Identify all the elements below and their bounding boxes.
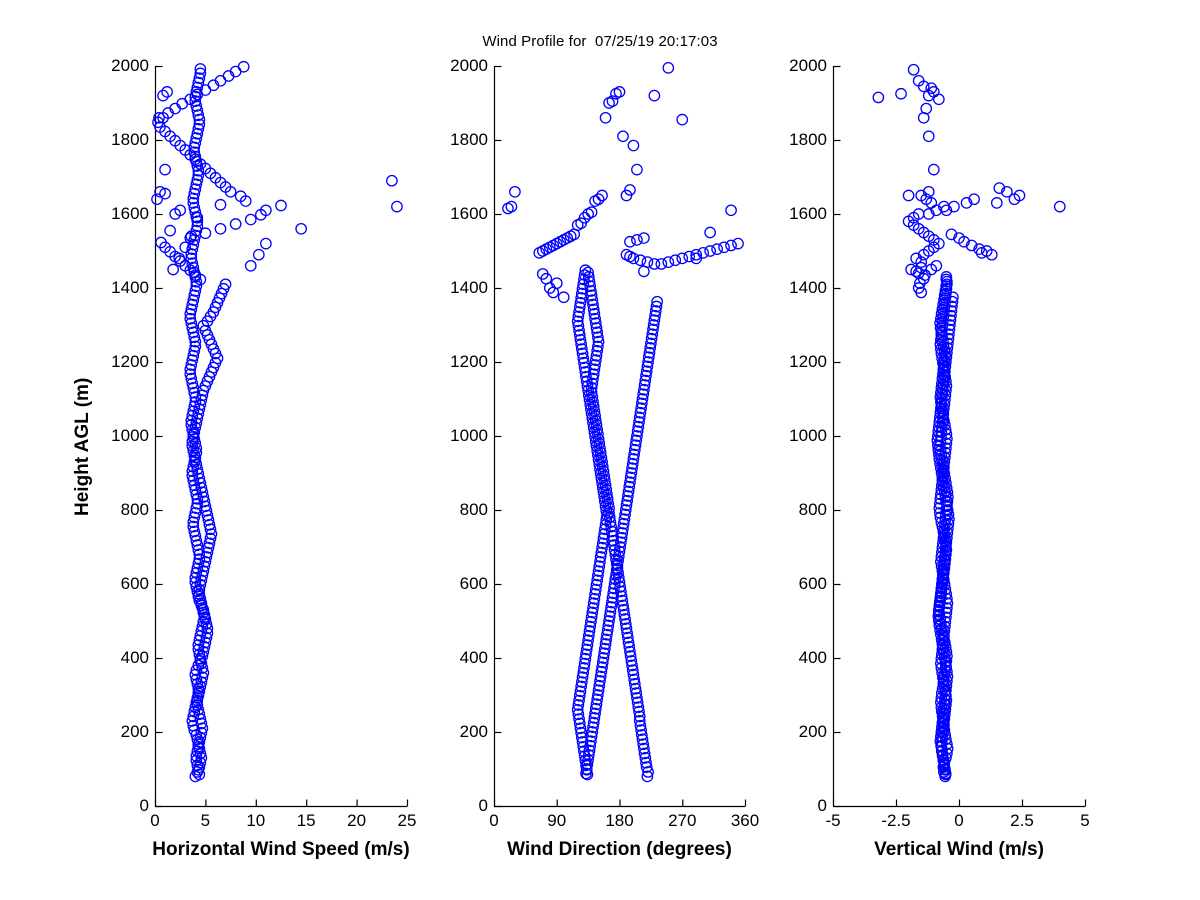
- y-tick-label: 200: [767, 722, 827, 742]
- data-point: [873, 92, 883, 102]
- y-tick-label: 1800: [767, 130, 827, 150]
- axes-panel-3: [0, 0, 1200, 900]
- data-point: [903, 190, 913, 200]
- figure-canvas: Wind Profile for 07/25/19 20:17:03 Heigh…: [0, 0, 1200, 900]
- data-point: [896, 89, 906, 99]
- data-point: [934, 94, 944, 104]
- x-tick-label: 2.5: [992, 811, 1052, 831]
- x-tick-label: -2.5: [866, 811, 926, 831]
- data-point: [921, 103, 931, 113]
- x-tick-label: 0: [929, 811, 989, 831]
- y-tick-label: 1200: [767, 352, 827, 372]
- y-tick-label: 1600: [767, 204, 827, 224]
- data-point: [926, 83, 936, 93]
- x-axis-label-panel-3: Vertical Wind (m/s): [749, 839, 1169, 861]
- x-tick-label: -5: [803, 811, 863, 831]
- y-tick-label: 2000: [767, 56, 827, 76]
- data-point: [1055, 201, 1065, 211]
- y-tick-label: 1400: [767, 278, 827, 298]
- data-point: [908, 65, 918, 75]
- y-tick-label: 400: [767, 648, 827, 668]
- data-point: [924, 131, 934, 141]
- x-tick-label: 5: [1055, 811, 1115, 831]
- data-series-markers: [873, 65, 1065, 782]
- y-tick-label: 1000: [767, 426, 827, 446]
- y-tick-label: 800: [767, 500, 827, 520]
- data-point: [992, 198, 1002, 208]
- data-point: [929, 164, 939, 174]
- y-tick-label: 600: [767, 574, 827, 594]
